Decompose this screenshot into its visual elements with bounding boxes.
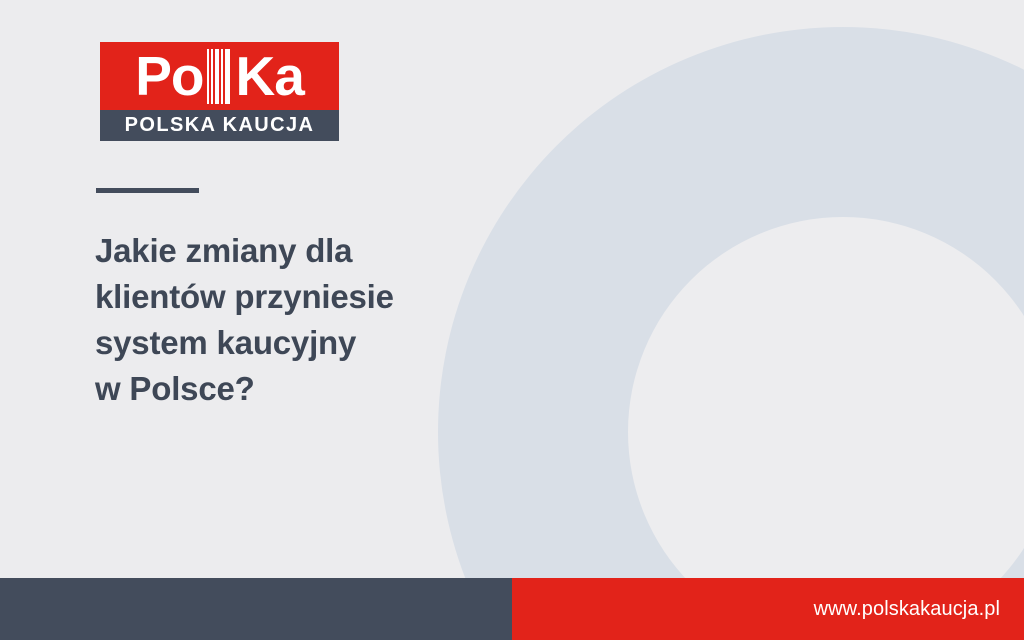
slide-canvas: Po Ka POLSKA KAUCJA Jakie zmiany dla kli… bbox=[0, 0, 1024, 640]
ring-outer-circle bbox=[438, 27, 1024, 640]
divider-dash bbox=[96, 188, 199, 193]
logo-tagline-panel: POLSKA KAUCJA bbox=[100, 110, 339, 141]
footer-red-block: www.polskakaucja.pl bbox=[512, 578, 1024, 640]
logo-text-ka: Ka bbox=[235, 49, 303, 104]
footer-bar: www.polskakaucja.pl bbox=[0, 578, 1024, 640]
website-url[interactable]: www.polskakaucja.pl bbox=[814, 598, 1024, 621]
ring-inner-circle bbox=[628, 217, 1024, 640]
logo-wordmark-panel: Po Ka bbox=[100, 42, 339, 110]
polska-kaucja-logo: Po Ka POLSKA KAUCJA bbox=[100, 42, 339, 141]
logo-wordmark: Po Ka bbox=[100, 42, 339, 110]
page-title: Jakie zmiany dla klientów przyniesie sys… bbox=[95, 228, 515, 412]
logo-text-po: Po bbox=[135, 49, 203, 104]
footer-dark-block bbox=[0, 578, 512, 640]
logo-tagline: POLSKA KAUCJA bbox=[125, 114, 315, 137]
barcode-icon bbox=[206, 49, 232, 104]
